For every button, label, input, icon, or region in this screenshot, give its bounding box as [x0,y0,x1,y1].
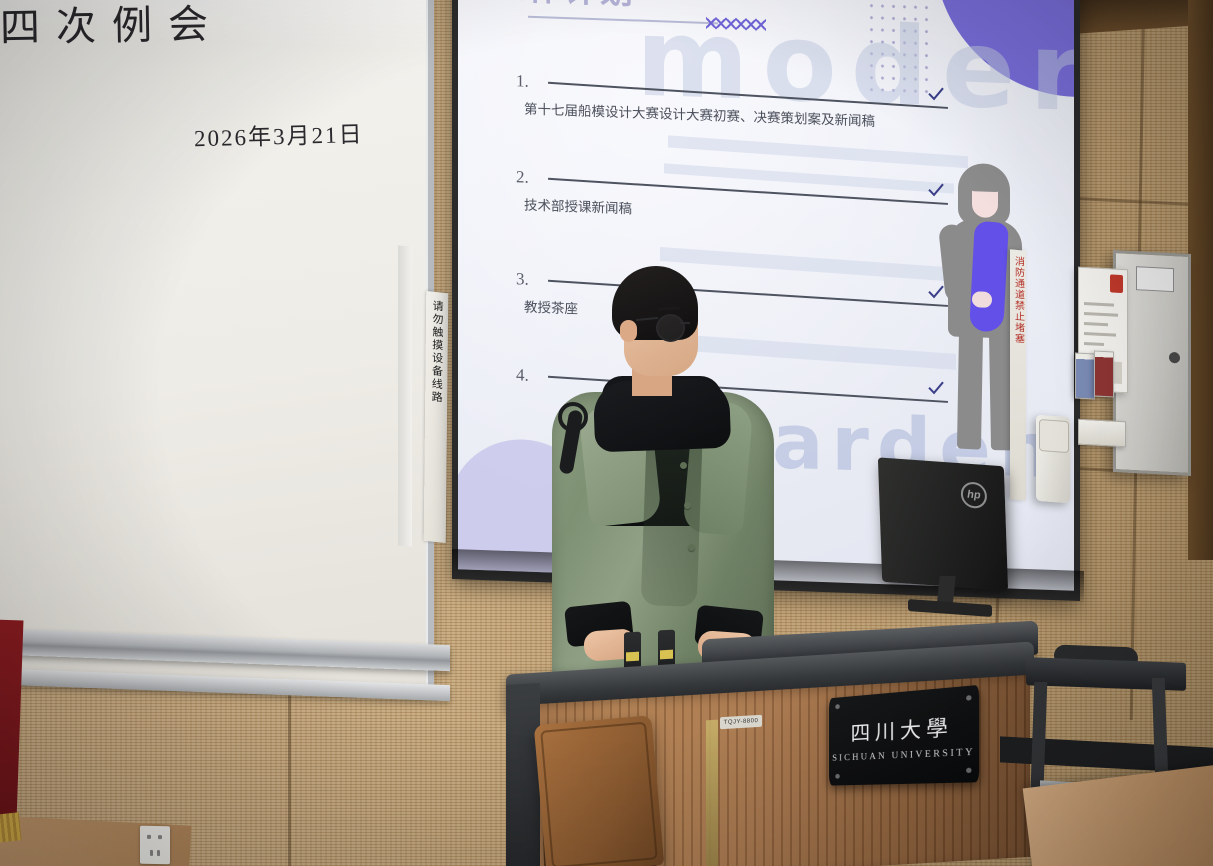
hp-logo-icon: hp [960,481,987,509]
wall-right-trim [1188,0,1213,560]
fire-exit-banner-text: 消防通道禁止堵塞 [1011,255,1026,344]
glasses-icon [656,314,685,342]
illustration-leg-left [957,331,983,450]
university-plaque: 四川大學 SICHUAN UNIVERSITY [829,685,979,786]
lectern-monitor[interactable]: hp [880,462,1006,612]
microphone-tape [626,652,639,662]
monitor-panel: hp [878,457,1008,590]
notice-line [1084,332,1116,337]
notice-line [1084,312,1118,317]
whiteboard-frame [0,0,434,693]
notice-line [1084,302,1114,307]
wall-sign-red [1094,350,1114,397]
slide-item-number: 4. [516,365,529,385]
presenter [548,252,788,682]
fire-equipment-sign [1078,419,1126,448]
slide-item-number: 3. [516,269,529,289]
plaque-screw [966,768,971,773]
glasses-bridge [680,322,690,324]
outlet-slot [157,850,160,856]
check-icon [926,84,946,105]
cabinet-lock-icon[interactable] [1169,352,1180,364]
safety-sign-text: 请勿触摸设备线路 [428,299,445,404]
whiteboard-edge-strip [398,246,412,547]
cabinet-label [1136,266,1174,292]
chair-backrest[interactable] [534,715,665,866]
illustration-bangs [970,179,1000,192]
plaque-english-name: SICHUAN UNIVERSITY [832,748,975,764]
lectern-model-sticker: TQJY-8800 [720,715,762,729]
notice-line [1084,322,1108,326]
warning-icon [1110,274,1123,293]
power-outlet[interactable] [140,826,170,865]
slide-item-number: 1. [516,71,529,91]
presenter-ear [620,320,637,342]
jacket-button [684,502,691,509]
strap-buckle-icon [558,402,588,432]
slide-person-illustration [928,162,1048,456]
outlet-slot [147,835,151,839]
slide-title-zigzag [706,14,766,34]
plaque-screw [835,774,839,779]
fire-exit-banner: 消防通道禁止堵塞 [1010,249,1026,500]
safety-sign-vertical: 请勿触摸设备线路 [424,291,449,543]
wall-telephone[interactable] [1036,415,1070,503]
lectern-trim-stripe [706,720,718,866]
outlet-slot [150,850,153,856]
notice-line [1084,342,1104,346]
plaque-screw [966,695,971,701]
illustration-accent [969,220,1009,333]
outlet-slot [158,835,162,839]
wall-sign-blue [1075,352,1095,399]
plaque-chinese-name: 四川大學 [851,711,954,747]
telephone-handset-icon[interactable] [1039,419,1069,453]
slide-item-number: 2. [516,167,529,187]
plaque-screw [835,704,839,709]
lectern-side-panel [506,683,540,866]
slide-item-text: 技术部授课新闻稿 [524,194,632,218]
jacket-button [688,544,695,551]
jacket-button [680,462,687,469]
microphone-tape [660,650,673,660]
classroom-photo: 第四次例会 2026年3月21日 请勿触摸设备线路 moder narden 工… [0,0,1213,866]
illustration-hand [972,291,992,308]
banner-fringe [0,812,22,843]
